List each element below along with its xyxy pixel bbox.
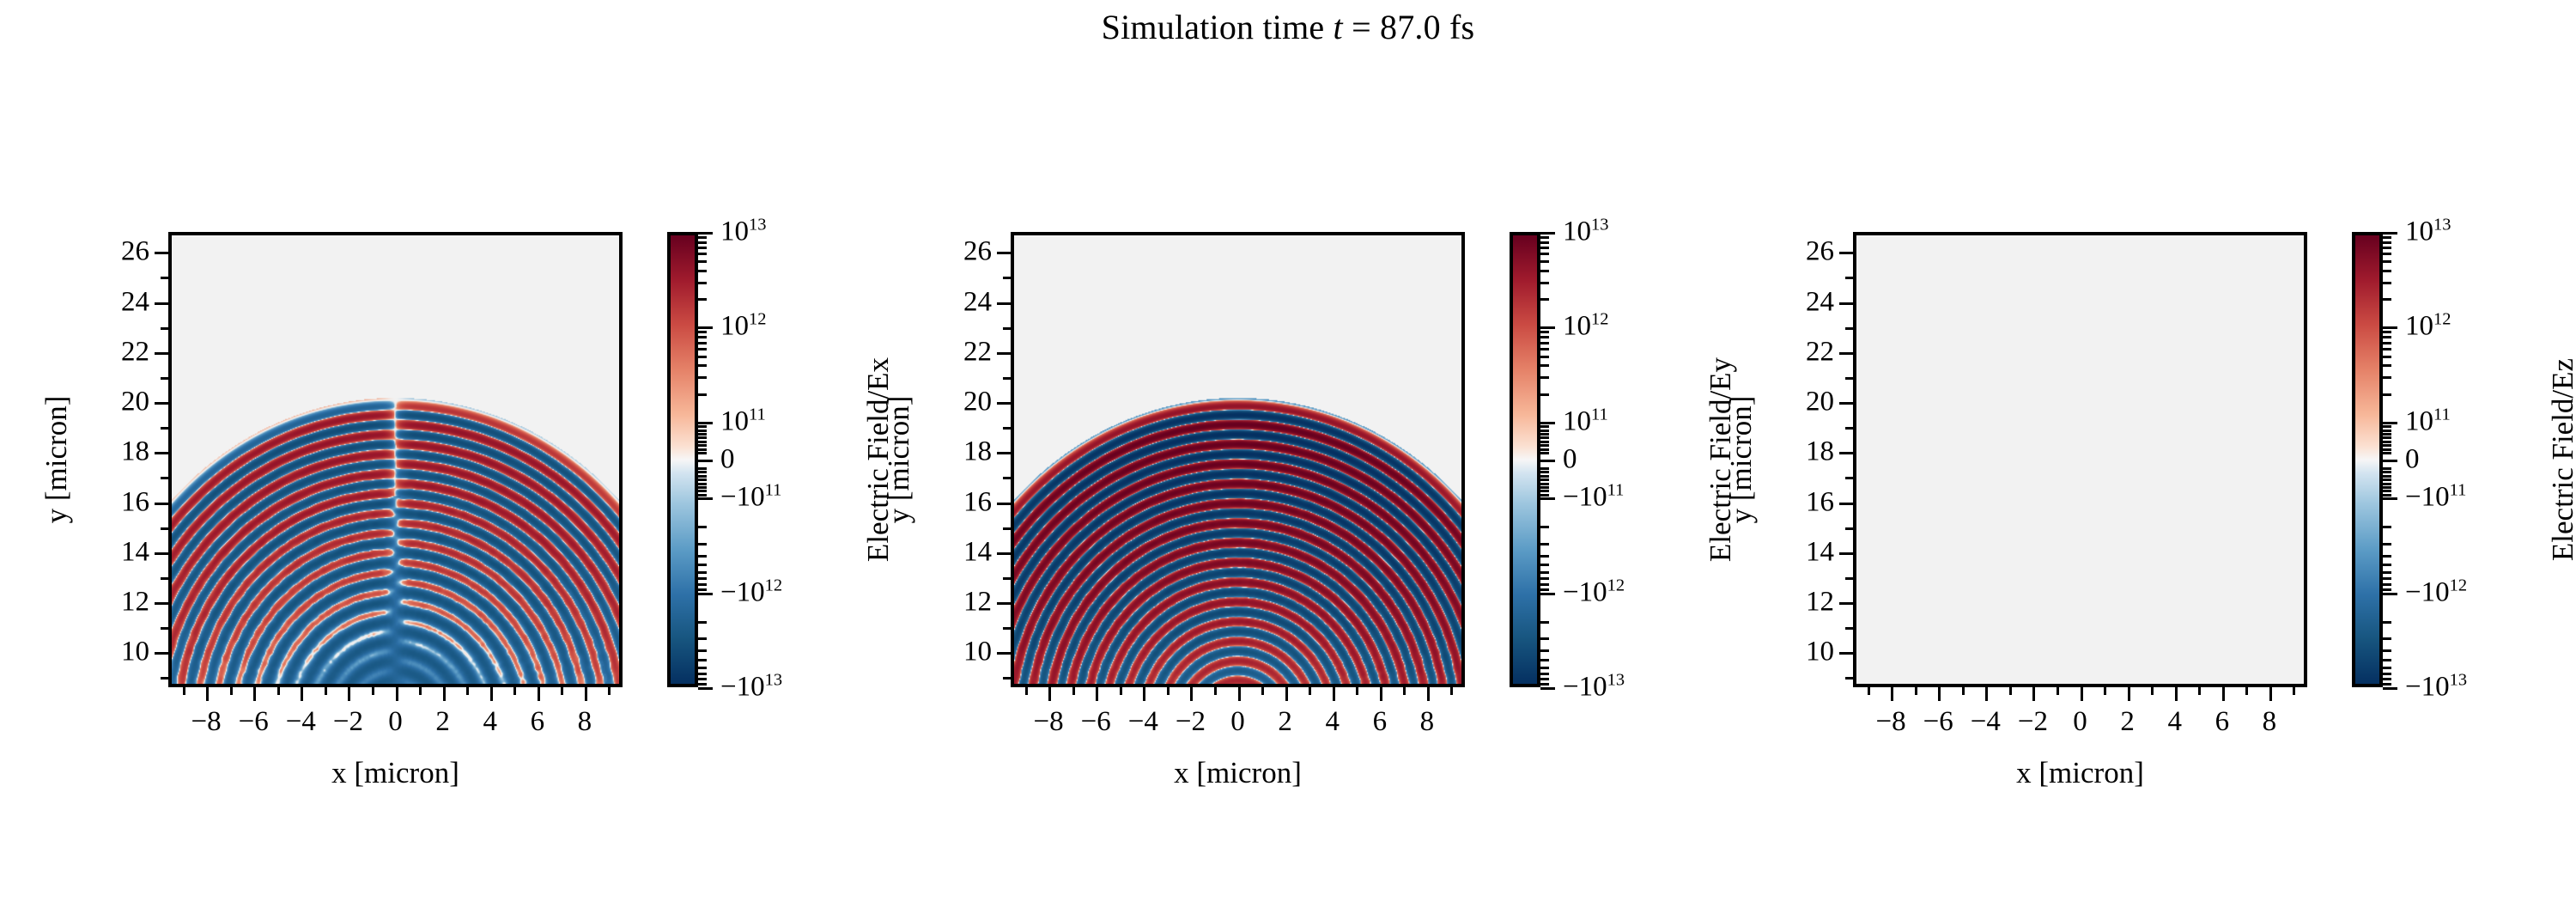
x-tick-ex--6 xyxy=(253,687,256,701)
figure-suptitle: Simulation time t = 87.0 fs xyxy=(0,7,2576,48)
colorbar-minor-tick-ez xyxy=(2383,588,2391,591)
y-tick-ey-20 xyxy=(997,402,1011,405)
colorbar-minor-tick-ex xyxy=(698,376,707,379)
colorbar-minor-tick-ez xyxy=(2383,331,2391,333)
y-tick-ez-10 xyxy=(1839,652,1853,655)
x-tick-ey--9 xyxy=(1025,687,1028,695)
x-tick-ex--1 xyxy=(372,687,374,695)
y-tick-ey-17 xyxy=(1003,477,1011,479)
colorbar-minor-tick-ey xyxy=(1540,247,1549,249)
colorbar-minor-tick-ey xyxy=(1540,236,1549,239)
colorbar-tick-ex-0 xyxy=(698,232,713,235)
x-tick-ez-3 xyxy=(2151,687,2154,695)
colorbar-minor-tick-ez xyxy=(2383,298,2391,301)
x-tick-ez--4 xyxy=(1985,687,1988,701)
x-tick-ex-1 xyxy=(419,687,422,695)
colorbar-minor-tick-ey xyxy=(1540,678,1549,680)
x-axis-label-ex: x [micron] xyxy=(331,756,459,790)
y-tick-ex-13 xyxy=(161,577,168,580)
colorbar-minor-tick-ex xyxy=(698,430,707,432)
y-tick-ez-12 xyxy=(1839,602,1853,605)
y-tick-ex-26 xyxy=(155,252,168,254)
colorbar-minor-tick-ex xyxy=(698,270,707,272)
colorbar-tick-label-ez-3: 0 xyxy=(2405,446,2420,474)
x-tick-ez-2 xyxy=(2128,687,2130,701)
colorbar-tick-ey-1 xyxy=(1540,326,1555,329)
x-tick-ey-9 xyxy=(1450,687,1453,695)
y-tick-label-ex-12: 12 xyxy=(86,588,149,616)
colorbar-minor-tick-ex xyxy=(698,571,707,574)
colorbar-minor-tick-ex xyxy=(698,393,707,396)
colorbar-minor-tick-ex xyxy=(698,659,707,661)
colorbar-minor-tick-ey xyxy=(1540,441,1549,443)
colorbar-tick-ey-0 xyxy=(1540,232,1555,235)
colorbar-minor-tick-ey xyxy=(1540,494,1549,497)
y-tick-label-ez-14: 14 xyxy=(1771,538,1834,566)
colorbar-tick-label-ey-6: −1013 xyxy=(1563,673,1625,702)
x-tick-ey-5 xyxy=(1356,687,1358,695)
colorbar-tick-label-ez-4: −1011 xyxy=(2405,484,2466,512)
x-tick-label-ey--2: −2 xyxy=(1176,708,1206,736)
y-tick-label-ey-10: 10 xyxy=(928,638,992,667)
x-axis-label-ez: x [micron] xyxy=(2016,756,2144,790)
colorbar-minor-tick-ey xyxy=(1540,555,1549,558)
y-tick-ex-12 xyxy=(155,602,168,605)
y-tick-ey-10 xyxy=(997,652,1011,655)
colorbar-minor-tick-ex xyxy=(698,452,707,454)
colorbar-minor-tick-ey xyxy=(1540,393,1549,396)
x-tick-ex--3 xyxy=(325,687,327,695)
colorbar-minor-tick-ey xyxy=(1540,364,1549,367)
colorbar-tick-label-ex-2: 1011 xyxy=(720,407,766,436)
colorbar-minor-tick-ex xyxy=(698,486,707,489)
colorbar-minor-tick-ex xyxy=(698,436,707,439)
x-tick-ex-6 xyxy=(538,687,540,701)
x-tick-label-ey--4: −4 xyxy=(1128,708,1158,736)
colorbar-minor-tick-ex xyxy=(698,282,707,284)
colorbar-minor-tick-ez xyxy=(2383,467,2391,470)
colorbar-minor-tick-ez xyxy=(2383,241,2391,244)
colorbar-tick-ey-3 xyxy=(1540,460,1555,462)
x-tick-label-ex--8: −8 xyxy=(191,708,222,736)
colorbar-minor-tick-ex xyxy=(698,555,707,558)
colorbar-minor-tick-ey xyxy=(1540,667,1549,669)
colorbar-minor-tick-ex xyxy=(698,494,707,497)
heatmap-axes-ez[interactable] xyxy=(1853,232,2307,687)
colorbar-minor-tick-ex xyxy=(698,543,707,545)
x-tick-ez--2 xyxy=(2032,687,2035,701)
x-tick-ex-4 xyxy=(490,687,493,701)
colorbar-minor-tick-ex xyxy=(698,683,707,686)
colorbar-minor-tick-ey xyxy=(1540,436,1549,439)
colorbar-minor-tick-ey xyxy=(1540,564,1549,566)
x-tick-ex-3 xyxy=(466,687,469,695)
suptitle-value: = 87.0 fs xyxy=(1343,8,1474,46)
x-tick-ey-7 xyxy=(1403,687,1406,695)
x-tick-ez-1 xyxy=(2104,687,2106,695)
colorbar-label-ez: Electric Field/Ez xyxy=(2546,358,2576,561)
colorbar-minor-tick-ey xyxy=(1540,659,1549,661)
y-tick-ex-23 xyxy=(161,327,168,330)
colorbar-minor-tick-ex xyxy=(698,348,707,350)
x-tick-ey-2 xyxy=(1285,687,1288,701)
x-tick-ez-4 xyxy=(2175,687,2178,701)
colorbar-tick-ex-4 xyxy=(698,497,713,500)
colorbar-tick-ez-6 xyxy=(2383,687,2397,690)
colorbar-minor-tick-ex xyxy=(698,253,707,255)
colorbar-minor-tick-ez xyxy=(2383,336,2391,338)
colorbar-minor-tick-ey xyxy=(1540,425,1549,428)
x-tick-ex-7 xyxy=(561,687,563,695)
colorbar-minor-tick-ez xyxy=(2383,260,2391,263)
x-tick-label-ey-0: 0 xyxy=(1230,708,1245,736)
colorbar-tick-label-ex-4: −1011 xyxy=(720,484,781,512)
colorbar-minor-tick-ez xyxy=(2383,543,2391,545)
x-tick-ey-3 xyxy=(1309,687,1311,695)
x-tick-ez--8 xyxy=(1891,687,1893,701)
colorbar-minor-tick-ey xyxy=(1540,298,1549,301)
x-tick-ey-8 xyxy=(1427,687,1430,701)
colorbar-tick-label-ex-5: −1012 xyxy=(720,578,782,606)
colorbar-minor-tick-ey xyxy=(1540,433,1549,436)
y-tick-ey-11 xyxy=(1003,627,1011,630)
colorbar-minor-tick-ey xyxy=(1540,270,1549,272)
colorbar-ey[interactable] xyxy=(1510,232,1540,687)
colorbar-minor-tick-ex xyxy=(698,356,707,358)
colorbar-tick-ey-2 xyxy=(1540,422,1555,424)
x-tick-ez-6 xyxy=(2222,687,2225,701)
colorbar-tick-label-ey-5: −1012 xyxy=(1563,578,1625,606)
y-tick-ey-23 xyxy=(1003,327,1011,330)
y-tick-label-ey-24: 24 xyxy=(928,288,992,316)
x-tick-ey--7 xyxy=(1072,687,1075,695)
x-tick-label-ez-8: 8 xyxy=(2263,708,2277,736)
colorbar-minor-tick-ey xyxy=(1540,467,1549,470)
colorbar-gradient-ez xyxy=(2355,235,2379,684)
y-axis-label-ey: y [micron] xyxy=(882,396,916,524)
colorbar-minor-tick-ex xyxy=(698,564,707,566)
y-tick-label-ez-26: 26 xyxy=(1771,238,1834,266)
y-tick-label-ez-12: 12 xyxy=(1771,588,1834,616)
colorbar-tick-ez-0 xyxy=(2383,232,2397,235)
colorbar-minor-tick-ez xyxy=(2383,494,2391,497)
y-tick-label-ez-16: 16 xyxy=(1771,488,1834,516)
suptitle-prefix: Simulation time xyxy=(1102,8,1334,46)
colorbar-minor-tick-ex xyxy=(698,364,707,367)
colorbar-minor-tick-ex xyxy=(698,667,707,669)
y-axis-label-ez: y [micron] xyxy=(1724,396,1759,524)
colorbar-minor-tick-ey xyxy=(1540,471,1549,473)
y-tick-ey-22 xyxy=(997,352,1011,355)
y-tick-ez-16 xyxy=(1839,503,1853,505)
y-tick-ex-17 xyxy=(161,477,168,479)
colorbar-tick-ex-6 xyxy=(698,687,713,690)
colorbar-minor-tick-ex xyxy=(698,621,707,624)
x-tick-ez--9 xyxy=(1868,687,1870,695)
x-tick-label-ex-8: 8 xyxy=(578,708,592,736)
colorbar-tick-ey-5 xyxy=(1540,593,1555,595)
x-tick-ez-0 xyxy=(2081,687,2083,701)
colorbar-minor-tick-ey xyxy=(1540,356,1549,358)
x-axis-label-ey: x [micron] xyxy=(1174,756,1302,790)
colorbar-minor-tick-ez xyxy=(2383,376,2391,379)
y-tick-label-ex-10: 10 xyxy=(86,638,149,667)
colorbar-minor-tick-ez xyxy=(2383,483,2391,485)
y-tick-ey-13 xyxy=(1003,577,1011,580)
x-tick-ex-2 xyxy=(443,687,446,701)
y-tick-ex-15 xyxy=(161,527,168,530)
colorbar-tick-label-ez-0: 1013 xyxy=(2405,218,2451,247)
colorbar-tick-ex-1 xyxy=(698,326,713,329)
colorbar-minor-tick-ey xyxy=(1540,430,1549,432)
y-tick-ey-14 xyxy=(997,552,1011,555)
colorbar-minor-tick-ez xyxy=(2383,282,2391,284)
colorbar-minor-tick-ey xyxy=(1540,577,1549,580)
colorbar-minor-tick-ez xyxy=(2383,253,2391,255)
colorbar-minor-tick-ez xyxy=(2383,441,2391,443)
colorbar-tick-ey-6 xyxy=(1540,687,1555,690)
x-tick-ex--7 xyxy=(230,687,233,695)
colorbar-tick-label-ez-1: 1012 xyxy=(2405,313,2451,341)
x-tick-ex--8 xyxy=(206,687,209,701)
colorbar-tick-ex-3 xyxy=(698,460,713,462)
x-tick-label-ez-4: 4 xyxy=(2167,708,2182,736)
x-tick-label-ey-2: 2 xyxy=(1278,708,1292,736)
colorbar-minor-tick-ez xyxy=(2383,270,2391,272)
x-tick-ex-0 xyxy=(396,687,398,701)
colorbar-minor-tick-ex xyxy=(698,673,707,675)
colorbar-minor-tick-ex xyxy=(698,241,707,244)
x-tick-label-ex-2: 2 xyxy=(435,708,450,736)
x-tick-label-ez-2: 2 xyxy=(2120,708,2135,736)
y-tick-label-ex-26: 26 xyxy=(86,238,149,266)
colorbar-ex[interactable] xyxy=(667,232,698,687)
colorbar-tick-label-ex-6: −1013 xyxy=(720,673,782,702)
colorbar-minor-tick-ez xyxy=(2383,444,2391,447)
colorbar-minor-tick-ex xyxy=(698,331,707,333)
y-tick-ez-26 xyxy=(1839,252,1853,254)
x-tick-ez--7 xyxy=(1915,687,1917,695)
colorbar-minor-tick-ey xyxy=(1540,621,1549,624)
y-tick-ez-9 xyxy=(1845,677,1853,680)
colorbar-minor-tick-ez xyxy=(2383,448,2391,451)
colorbar-minor-tick-ex xyxy=(698,441,707,443)
colorbar-tick-label-ex-1: 1012 xyxy=(720,313,766,341)
y-tick-ex-20 xyxy=(155,402,168,405)
y-tick-label-ez-24: 24 xyxy=(1771,288,1834,316)
y-tick-ex-24 xyxy=(155,302,168,305)
colorbar-tick-ez-4 xyxy=(2383,497,2397,500)
x-tick-ex--9 xyxy=(183,687,185,695)
colorbar-tick-label-ey-3: 0 xyxy=(1563,446,1577,474)
y-tick-ey-24 xyxy=(997,302,1011,305)
y-tick-label-ey-26: 26 xyxy=(928,238,992,266)
x-tick-ey--4 xyxy=(1143,687,1145,701)
colorbar-tick-ez-2 xyxy=(2383,422,2397,424)
y-tick-label-ex-24: 24 xyxy=(86,288,149,316)
figure-canvas: Simulation time t = 87.0 fs 101214161820… xyxy=(0,0,2576,902)
y-tick-ez-21 xyxy=(1845,377,1853,380)
colorbar-minor-tick-ey xyxy=(1540,649,1549,652)
x-tick-ex-5 xyxy=(513,687,516,695)
y-tick-label-ey-18: 18 xyxy=(928,438,992,466)
y-tick-ey-26 xyxy=(997,252,1011,254)
heatmap-axes-ey[interactable] xyxy=(1011,232,1465,687)
colorbar-minor-tick-ex xyxy=(698,577,707,580)
y-tick-ex-22 xyxy=(155,352,168,355)
y-tick-ey-19 xyxy=(1003,427,1011,430)
colorbar-tick-label-ez-6: −1013 xyxy=(2405,673,2467,702)
y-tick-ex-16 xyxy=(155,503,168,505)
y-tick-ez-17 xyxy=(1845,477,1853,479)
y-tick-ez-18 xyxy=(1839,452,1853,454)
y-tick-label-ex-14: 14 xyxy=(86,538,149,566)
colorbar-minor-tick-ez xyxy=(2383,425,2391,428)
colorbar-minor-tick-ez xyxy=(2383,436,2391,439)
colorbar-minor-tick-ez xyxy=(2383,364,2391,367)
y-tick-label-ex-16: 16 xyxy=(86,488,149,516)
colorbar-minor-tick-ex xyxy=(698,478,707,481)
colorbar-minor-tick-ez xyxy=(2383,452,2391,454)
x-tick-ez--5 xyxy=(1962,687,1965,695)
colorbar-ez[interactable] xyxy=(2352,232,2383,687)
x-tick-ez-5 xyxy=(2198,687,2201,695)
y-tick-ey-15 xyxy=(1003,527,1011,530)
y-tick-label-ey-12: 12 xyxy=(928,588,992,616)
colorbar-tick-ez-3 xyxy=(2383,460,2397,462)
y-tick-label-ey-16: 16 xyxy=(928,488,992,516)
x-tick-ex-9 xyxy=(608,687,611,695)
y-tick-ez-13 xyxy=(1845,577,1853,580)
colorbar-tick-label-ey-1: 1012 xyxy=(1563,313,1608,341)
colorbar-tick-label-ey-0: 1013 xyxy=(1563,218,1608,247)
colorbar-minor-tick-ez xyxy=(2383,393,2391,396)
x-tick-ez-7 xyxy=(2245,687,2248,695)
y-tick-ey-25 xyxy=(1003,277,1011,279)
x-tick-label-ex--6: −6 xyxy=(239,708,269,736)
x-tick-ex--5 xyxy=(277,687,280,695)
colorbar-minor-tick-ez xyxy=(2383,577,2391,580)
colorbar-tick-ex-2 xyxy=(698,422,713,424)
colorbar-minor-tick-ex xyxy=(698,444,707,447)
colorbar-minor-tick-ey xyxy=(1540,490,1549,492)
colorbar-minor-tick-ey xyxy=(1540,336,1549,338)
y-tick-ey-18 xyxy=(997,452,1011,454)
field-image-ey xyxy=(1014,235,1461,684)
y-tick-ex-11 xyxy=(161,627,168,630)
colorbar-tick-label-ez-5: −1012 xyxy=(2405,578,2467,606)
colorbar-minor-tick-ez xyxy=(2383,555,2391,558)
colorbar-tick-ex-5 xyxy=(698,593,713,595)
colorbar-tick-label-ey-2: 1011 xyxy=(1563,407,1608,436)
y-tick-ey-9 xyxy=(1003,677,1011,680)
y-tick-ez-11 xyxy=(1845,627,1853,630)
x-tick-label-ez--2: −2 xyxy=(2018,708,2048,736)
colorbar-minor-tick-ez xyxy=(2383,659,2391,661)
colorbar-minor-tick-ez xyxy=(2383,621,2391,624)
colorbar-minor-tick-ey xyxy=(1540,348,1549,350)
x-tick-ey-0 xyxy=(1238,687,1241,701)
colorbar-minor-tick-ey xyxy=(1540,444,1549,447)
x-tick-ey-6 xyxy=(1380,687,1382,701)
y-tick-ez-20 xyxy=(1839,402,1853,405)
colorbar-minor-tick-ey xyxy=(1540,571,1549,574)
colorbar-minor-tick-ey xyxy=(1540,583,1549,586)
x-tick-ey--2 xyxy=(1190,687,1193,701)
colorbar-minor-tick-ex xyxy=(698,526,707,528)
colorbar-gradient-ey xyxy=(1513,235,1537,684)
colorbar-tick-ez-5 xyxy=(2383,593,2397,595)
colorbar-minor-tick-ez xyxy=(2383,649,2391,652)
colorbar-minor-tick-ey xyxy=(1540,588,1549,591)
y-tick-ex-10 xyxy=(155,652,168,655)
colorbar-minor-tick-ez xyxy=(2383,236,2391,239)
colorbar-tick-label-ex-3: 0 xyxy=(720,446,735,474)
colorbar-minor-tick-ex xyxy=(698,298,707,301)
y-tick-label-ez-10: 10 xyxy=(1771,638,1834,667)
colorbar-minor-tick-ez xyxy=(2383,478,2391,481)
x-tick-label-ex-6: 6 xyxy=(531,708,545,736)
x-tick-label-ex--4: −4 xyxy=(286,708,316,736)
colorbar-tick-ez-1 xyxy=(2383,326,2397,329)
y-tick-ex-14 xyxy=(155,552,168,555)
colorbar-minor-tick-ex xyxy=(698,433,707,436)
x-tick-label-ey--8: −8 xyxy=(1034,708,1064,736)
x-tick-label-ez--8: −8 xyxy=(1876,708,1906,736)
heatmap-axes-ex[interactable] xyxy=(168,232,623,687)
colorbar-minor-tick-ex xyxy=(698,467,707,470)
colorbar-minor-tick-ez xyxy=(2383,247,2391,249)
x-tick-ex--4 xyxy=(301,687,303,701)
colorbar-minor-tick-ex xyxy=(698,588,707,591)
colorbar-minor-tick-ey xyxy=(1540,683,1549,686)
colorbar-minor-tick-ey xyxy=(1540,282,1549,284)
x-tick-label-ex--2: −2 xyxy=(333,708,363,736)
x-tick-ez--6 xyxy=(1938,687,1941,701)
colorbar-minor-tick-ez xyxy=(2383,526,2391,528)
colorbar-minor-tick-ez xyxy=(2383,490,2391,492)
colorbar-minor-tick-ey xyxy=(1540,448,1549,451)
colorbar-minor-tick-ez xyxy=(2383,564,2391,566)
y-tick-ey-16 xyxy=(997,503,1011,505)
x-tick-ez--1 xyxy=(2057,687,2059,695)
colorbar-minor-tick-ex xyxy=(698,247,707,249)
colorbar-minor-tick-ey xyxy=(1540,376,1549,379)
colorbar-minor-tick-ez xyxy=(2383,433,2391,436)
colorbar-minor-tick-ez xyxy=(2383,475,2391,478)
x-tick-label-ey-6: 6 xyxy=(1373,708,1388,736)
y-tick-ex-19 xyxy=(161,427,168,430)
colorbar-minor-tick-ez xyxy=(2383,342,2391,344)
colorbar-minor-tick-ex xyxy=(698,425,707,428)
colorbar-minor-tick-ex xyxy=(698,336,707,338)
y-tick-label-ex-22: 22 xyxy=(86,338,149,366)
colorbar-minor-tick-ey xyxy=(1540,260,1549,263)
colorbar-minor-tick-ey xyxy=(1540,475,1549,478)
y-tick-label-ey-14: 14 xyxy=(928,538,992,566)
y-tick-ez-23 xyxy=(1845,327,1853,330)
y-tick-ex-25 xyxy=(161,277,168,279)
x-tick-ey--5 xyxy=(1120,687,1122,695)
colorbar-minor-tick-ez xyxy=(2383,486,2391,489)
colorbar-minor-tick-ey xyxy=(1540,331,1549,333)
colorbar-tick-ey-4 xyxy=(1540,497,1555,500)
colorbar-minor-tick-ez xyxy=(2383,583,2391,586)
colorbar-minor-tick-ez xyxy=(2383,673,2391,675)
colorbar-minor-tick-ey xyxy=(1540,673,1549,675)
x-tick-ex--2 xyxy=(348,687,350,701)
colorbar-minor-tick-ey xyxy=(1540,637,1549,640)
